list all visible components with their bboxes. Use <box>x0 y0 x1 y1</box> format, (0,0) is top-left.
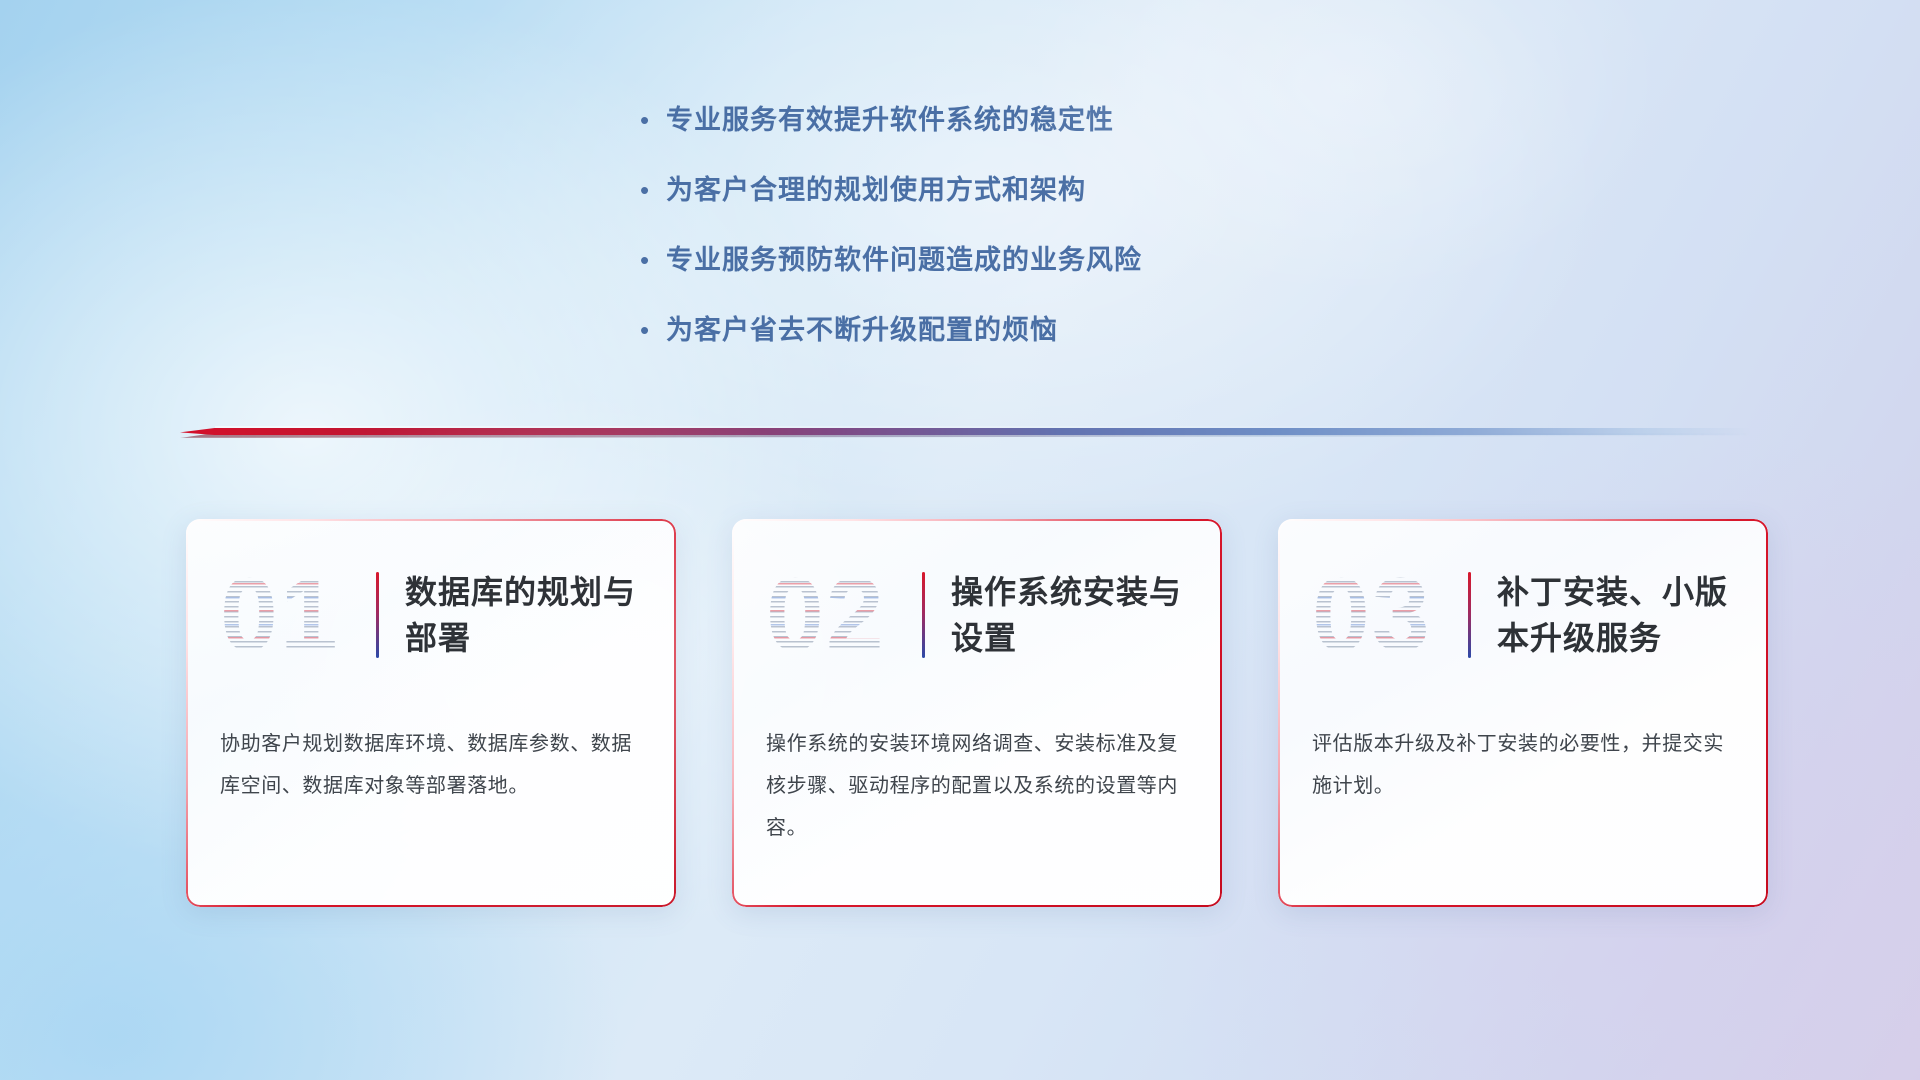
card-content: 02 操作系统安装与设置 操作系统的安装环境网络调查、安装标准及复核步骤、驱动程… <box>732 519 1222 907</box>
card-accent-rule <box>1468 572 1471 658</box>
service-card-02[interactable]: 02 操作系统安装与设置 操作系统的安装环境网络调查、安装标准及复核步骤、驱动程… <box>732 519 1222 907</box>
card-title: 操作系统安装与设置 <box>951 569 1188 661</box>
card-title: 补丁安装、小版本升级服务 <box>1497 569 1734 661</box>
service-card-03[interactable]: 03 补丁安装、小版本升级服务 评估版本升级及补丁安装的必要性，并提交实施计划。 <box>1278 519 1768 907</box>
card-content: 03 补丁安装、小版本升级服务 评估版本升级及补丁安装的必要性，并提交实施计划。 <box>1278 519 1768 907</box>
list-item: • 专业服务预防软件问题造成的业务风险 <box>640 240 1460 280</box>
bullet-text: 为客户省去不断升级配置的烦恼 <box>666 310 1058 350</box>
list-item: • 为客户省去不断升级配置的烦恼 <box>640 310 1460 350</box>
list-item: • 专业服务有效提升软件系统的稳定性 <box>640 100 1460 140</box>
slide-canvas: • 专业服务有效提升软件系统的稳定性 • 为客户合理的规划使用方式和架构 • 专… <box>0 0 1920 1080</box>
card-number-watermark: 02 <box>766 556 916 674</box>
card-description: 操作系统的安装环境网络调查、安装标准及复核步骤、驱动程序的配置以及系统的设置等内… <box>766 723 1188 849</box>
bullet-text: 专业服务有效提升软件系统的稳定性 <box>666 100 1114 140</box>
bullet-text: 为客户合理的规划使用方式和架构 <box>666 170 1086 210</box>
card-number-watermark: 01 <box>220 556 370 674</box>
card-description: 协助客户规划数据库环境、数据库参数、数据库空间、数据库对象等部署落地。 <box>220 723 642 807</box>
card-header: 02 操作系统安装与设置 <box>766 555 1188 675</box>
card-content: 01 数据库的规划与部署 协助客户规划数据库环境、数据库参数、数据库空间、数据库… <box>186 519 676 907</box>
service-card-row: 01 数据库的规划与部署 协助客户规划数据库环境、数据库参数、数据库空间、数据库… <box>186 519 1768 907</box>
card-header: 03 补丁安装、小版本升级服务 <box>1312 555 1734 675</box>
section-divider <box>180 420 1750 442</box>
card-header: 01 数据库的规划与部署 <box>220 555 642 675</box>
divider-highlight <box>215 426 1750 428</box>
bullet-text: 专业服务预防软件问题造成的业务风险 <box>666 240 1142 280</box>
card-accent-rule <box>376 572 379 658</box>
card-description: 评估版本升级及补丁安装的必要性，并提交实施计划。 <box>1312 723 1734 807</box>
divider-bar <box>180 428 1750 435</box>
service-card-01[interactable]: 01 数据库的规划与部署 协助客户规划数据库环境、数据库参数、数据库空间、数据库… <box>186 519 676 907</box>
benefits-bullet-list: • 专业服务有效提升软件系统的稳定性 • 为客户合理的规划使用方式和架构 • 专… <box>640 100 1460 380</box>
card-accent-rule <box>922 572 925 658</box>
bullet-dot-icon: • <box>640 100 666 140</box>
card-title: 数据库的规划与部署 <box>405 569 642 661</box>
bullet-dot-icon: • <box>640 240 666 280</box>
bullet-dot-icon: • <box>640 170 666 210</box>
card-number-watermark: 03 <box>1312 556 1462 674</box>
list-item: • 为客户合理的规划使用方式和架构 <box>640 170 1460 210</box>
bullet-dot-icon: • <box>640 310 666 350</box>
